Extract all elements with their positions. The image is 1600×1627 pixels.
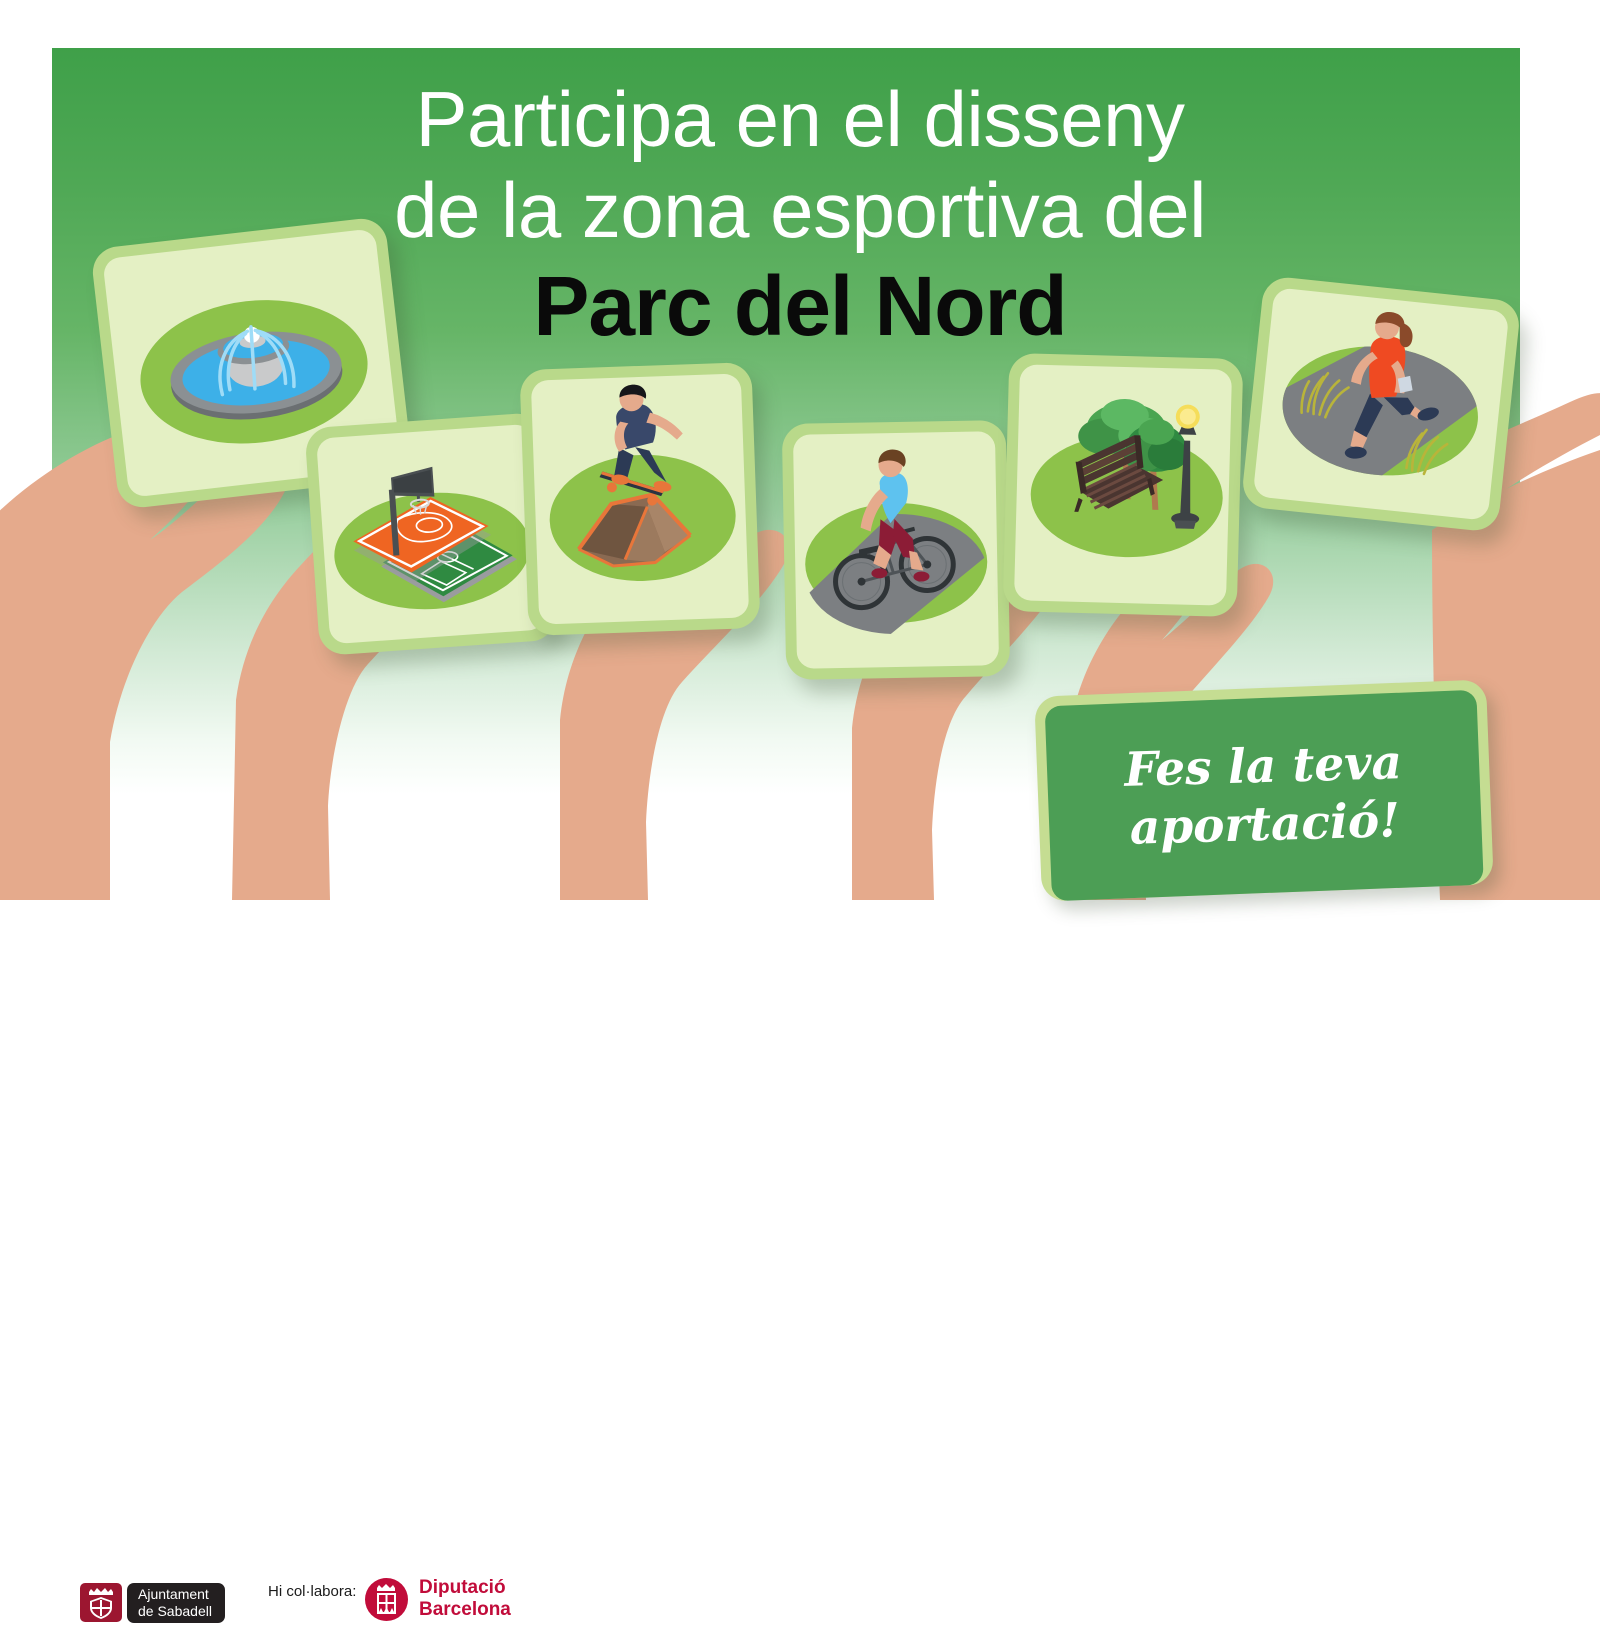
diputacio-line-2: Barcelona xyxy=(419,1599,511,1621)
sabadell-crest-icon xyxy=(80,1583,122,1622)
ajuntament-logo[interactable]: Ajuntament de Sabadell xyxy=(80,1583,225,1623)
card-bench-face xyxy=(1014,364,1232,605)
diputacio-name: Diputació Barcelona xyxy=(419,1577,511,1621)
ajuntament-line-1: Ajuntament xyxy=(138,1586,212,1603)
collaborates-label: Hi col·labora: xyxy=(268,1583,356,1600)
park-bench-icon xyxy=(1014,364,1232,605)
diputacio-logo[interactable]: Diputació Barcelona xyxy=(365,1577,511,1621)
card-bench[interactable] xyxy=(1003,353,1244,617)
card-cycling-face xyxy=(793,431,999,668)
footer: Ajuntament de Sabadell Hi col·labora: Di… xyxy=(0,786,1600,866)
ajuntament-name: Ajuntament de Sabadell xyxy=(127,1583,225,1623)
ajuntament-line-2: de Sabadell xyxy=(138,1603,212,1620)
card-skatepark[interactable] xyxy=(519,362,760,636)
sports-court-icon xyxy=(316,424,546,645)
diputacio-line-1: Diputació xyxy=(419,1577,511,1599)
diputacio-seal-icon xyxy=(365,1578,408,1621)
card-cycling[interactable] xyxy=(782,420,1010,680)
card-skatepark-face xyxy=(531,373,749,624)
card-sportcourt-face xyxy=(316,424,546,645)
runner-icon xyxy=(1253,287,1510,521)
card-running-face xyxy=(1253,287,1510,521)
skateboarder-icon xyxy=(531,373,749,624)
card-running[interactable] xyxy=(1241,275,1522,533)
cyclist-icon xyxy=(793,431,999,668)
card-sportcourt[interactable] xyxy=(304,412,557,656)
